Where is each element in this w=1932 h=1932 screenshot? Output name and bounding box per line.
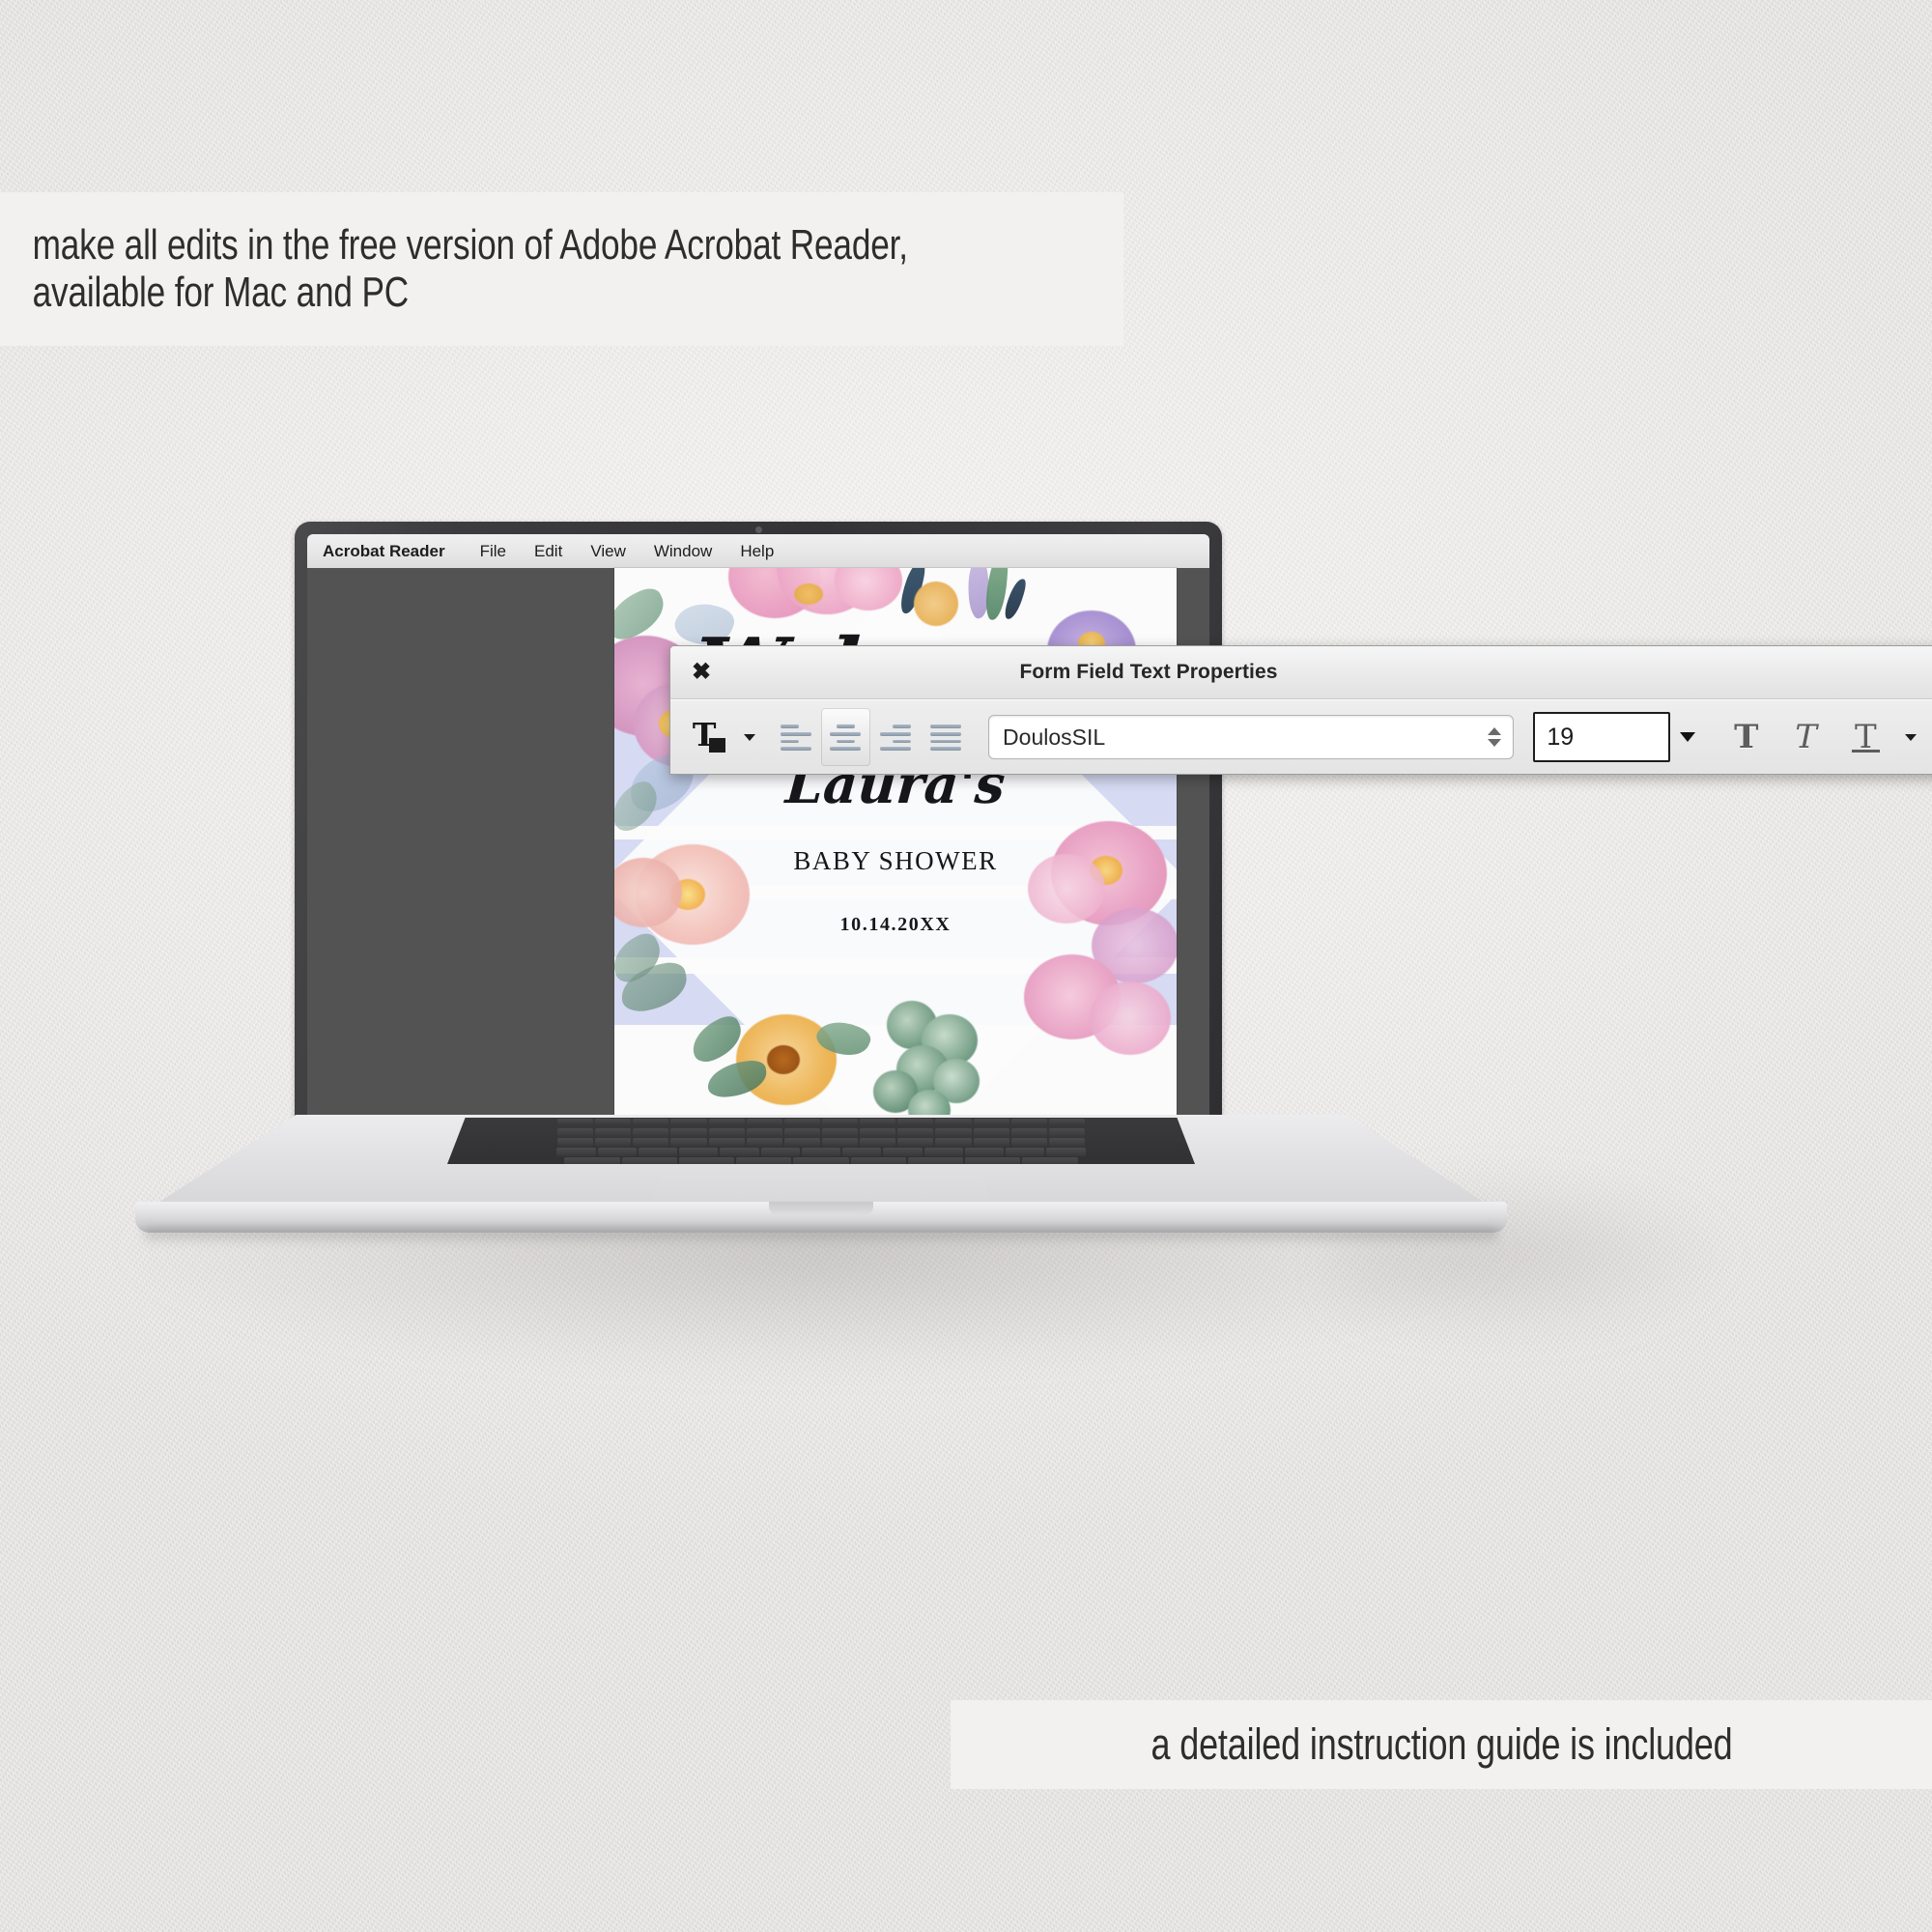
align-left-button[interactable] [771, 708, 821, 766]
menu-item-file[interactable]: File [480, 542, 506, 561]
keyboard-key[interactable] [595, 1138, 631, 1147]
close-icon[interactable]: ✖ [691, 662, 712, 683]
keyboard-key[interactable] [557, 1128, 593, 1137]
keyboard-key[interactable] [897, 1138, 933, 1147]
keyboard-key[interactable] [556, 1148, 595, 1156]
caption-top-line2: available for Mac and PC [33, 269, 1124, 316]
align-center-button[interactable] [821, 708, 871, 766]
stepper-up-icon [1488, 727, 1501, 735]
keyboard-key[interactable] [670, 1128, 706, 1137]
keyboard-key[interactable] [679, 1148, 718, 1156]
bold-button[interactable]: T [1717, 708, 1776, 766]
keyboard-key[interactable] [595, 1128, 631, 1137]
stepper-down-icon [1488, 739, 1501, 747]
flower-center-yellow-bottom [767, 1045, 800, 1074]
keyboard-key[interactable] [793, 1157, 848, 1164]
chevron-down-icon-underline [1905, 734, 1917, 741]
keyboard-key[interactable] [965, 1148, 1004, 1156]
keyboard-key[interactable] [822, 1138, 858, 1147]
keyboard-row-home [447, 1148, 1195, 1156]
italic-icon: T [1795, 721, 1817, 753]
laptop-screen-bezel: Acrobat Reader File Edit View Window Hel… [307, 534, 1209, 1126]
mac-menubar[interactable]: Acrobat Reader File Edit View Window Hel… [307, 534, 1209, 569]
keyboard-key[interactable] [557, 1119, 593, 1125]
keyboard-key[interactable] [598, 1148, 637, 1156]
webcam-icon [755, 526, 762, 533]
font-family-select[interactable]: DoulosSIL [988, 715, 1514, 759]
keyboard-key[interactable] [974, 1119, 1009, 1125]
keyboard-key[interactable] [709, 1119, 745, 1125]
underline-button[interactable]: T [1836, 708, 1896, 766]
keyboard-key[interactable] [908, 1157, 963, 1164]
keyboard-key[interactable] [720, 1148, 758, 1156]
keyboard-key[interactable] [670, 1119, 706, 1125]
align-left-icon [781, 724, 811, 751]
keyboard-key[interactable] [747, 1128, 782, 1137]
laptop-mockup: Acrobat Reader File Edit View Window Hel… [135, 522, 1507, 1217]
keyboard-key[interactable] [1049, 1138, 1085, 1147]
laptop-keyboard[interactable] [447, 1118, 1195, 1164]
text-color-swatch [709, 738, 725, 753]
keyboard-key[interactable] [851, 1157, 906, 1164]
keyboard-key[interactable] [670, 1138, 706, 1147]
keyboard-key[interactable] [822, 1119, 858, 1125]
keyboard-key[interactable] [860, 1128, 895, 1137]
keyboard-key[interactable] [935, 1138, 971, 1147]
keyboard-key[interactable] [709, 1138, 745, 1147]
keyboard-key[interactable] [860, 1119, 895, 1125]
font-size-dropdown-icon[interactable] [1680, 732, 1695, 742]
text-color-icon: T [693, 721, 725, 753]
keyboard-key[interactable] [842, 1148, 881, 1156]
font-size-input[interactable]: 19 [1533, 712, 1670, 762]
keyboard-key[interactable] [935, 1128, 971, 1137]
underline-dropdown-button[interactable] [1895, 708, 1924, 766]
menu-item-view[interactable]: View [590, 542, 626, 561]
keyboard-key[interactable] [1011, 1128, 1047, 1137]
font-family-value: DoulosSIL [1003, 724, 1488, 751]
align-justify-icon [930, 724, 961, 751]
chevron-down-icon [744, 734, 755, 741]
italic-button[interactable]: T [1776, 708, 1836, 766]
keyboard-key[interactable] [633, 1128, 668, 1137]
laptop-palmrest [156, 1115, 1486, 1204]
caption-top-line1: make all edits in the free version of Ad… [33, 221, 1124, 269]
dialog-title-bar: ✖ Form Field Text Properties [670, 646, 1932, 699]
caption-top-banner: make all edits in the free version of Ad… [0, 192, 1123, 346]
menu-item-acrobat-reader[interactable]: Acrobat Reader [323, 542, 445, 561]
keyboard-key[interactable] [1049, 1128, 1085, 1137]
keyboard-key[interactable] [639, 1148, 677, 1156]
keyboard-key[interactable] [1011, 1138, 1047, 1147]
keyboard-key[interactable] [679, 1157, 734, 1164]
laptop-lid-notch [769, 1202, 873, 1215]
keyboard-key[interactable] [557, 1138, 593, 1147]
keyboard-key[interactable] [883, 1148, 922, 1156]
caption-bottom-banner: a detailed instruction guide is included [951, 1700, 1932, 1789]
bold-icon: T [1734, 721, 1758, 753]
keyboard-key[interactable] [564, 1157, 619, 1164]
text-color-dropdown-button[interactable] [734, 708, 763, 766]
keyboard-key[interactable] [860, 1138, 895, 1147]
align-justify-button[interactable] [921, 708, 971, 766]
align-right-button[interactable] [870, 708, 921, 766]
keyboard-key[interactable] [1011, 1119, 1047, 1125]
keyboard-key[interactable] [897, 1119, 933, 1125]
form-field-text-properties-dialog[interactable]: ✖ Form Field Text Properties T Dou [669, 645, 1932, 775]
keyboard-key[interactable] [897, 1128, 933, 1137]
keyboard-row-qwerty [447, 1138, 1195, 1147]
keyboard-key[interactable] [747, 1138, 782, 1147]
menu-item-window[interactable]: Window [654, 542, 712, 561]
flower-yellow-top [914, 582, 958, 626]
font-size-value: 19 [1547, 724, 1574, 752]
keyboard-key[interactable] [784, 1138, 820, 1147]
keyboard-row-function [447, 1119, 1195, 1125]
dialog-title: Form Field Text Properties [1019, 661, 1277, 684]
keyboard-key[interactable] [784, 1128, 820, 1137]
caption-bottom-text: a detailed instruction guide is included [1151, 1719, 1733, 1770]
keyboard-key[interactable] [622, 1157, 677, 1164]
menu-item-help[interactable]: Help [740, 542, 774, 561]
keyboard-key[interactable] [965, 1157, 1020, 1164]
keyboard-key[interactable] [747, 1119, 782, 1125]
keyboard-key[interactable] [802, 1148, 840, 1156]
underline-icon: T [1855, 721, 1877, 753]
laptop-base-shadow [145, 1229, 1497, 1244]
laptop-lid: Acrobat Reader File Edit View Window Hel… [295, 522, 1222, 1137]
keyboard-key[interactable] [822, 1128, 858, 1137]
menu-item-edit[interactable]: Edit [534, 542, 562, 561]
keyboard-key[interactable] [761, 1148, 800, 1156]
keyboard-key[interactable] [633, 1119, 668, 1125]
dialog-toolbar: T DoulosSIL 19 [670, 699, 1932, 774]
flower-center-yellow-top [794, 583, 823, 605]
align-center-icon [830, 724, 861, 751]
keyboard-key[interactable] [1049, 1119, 1085, 1125]
keyboard-key[interactable] [974, 1128, 1009, 1137]
keyboard-key[interactable] [974, 1138, 1009, 1147]
strikethrough-button[interactable]: T [1924, 708, 1932, 766]
align-right-icon [880, 724, 911, 751]
flower-pink-bottom-right-2 [1090, 981, 1171, 1055]
keyboard-key[interactable] [633, 1138, 668, 1147]
keyboard-key[interactable] [784, 1119, 820, 1125]
invitation-date-field[interactable]: 10.14.20XX [614, 914, 1177, 936]
keyboard-key[interactable] [1006, 1148, 1044, 1156]
laptop-base [135, 1115, 1507, 1238]
keyboard-key[interactable] [595, 1119, 631, 1125]
keyboard-row-bottom [447, 1157, 1195, 1164]
font-family-stepper-icon[interactable] [1488, 724, 1503, 750]
keyboard-key[interactable] [709, 1128, 745, 1137]
invitation-event-field[interactable]: BABY SHOWER [614, 846, 1177, 876]
text-color-button[interactable]: T [684, 708, 734, 766]
laptop-trackpad[interactable] [652, 1165, 990, 1200]
keyboard-key[interactable] [935, 1119, 971, 1125]
keyboard-key[interactable] [1022, 1157, 1077, 1164]
screen-content: Acrobat Reader File Edit View Window Hel… [307, 534, 1209, 1126]
keyboard-key[interactable] [924, 1148, 963, 1156]
keyboard-row-numbers [447, 1128, 1195, 1137]
keyboard-key[interactable] [1046, 1148, 1085, 1156]
keyboard-key[interactable] [736, 1157, 791, 1164]
